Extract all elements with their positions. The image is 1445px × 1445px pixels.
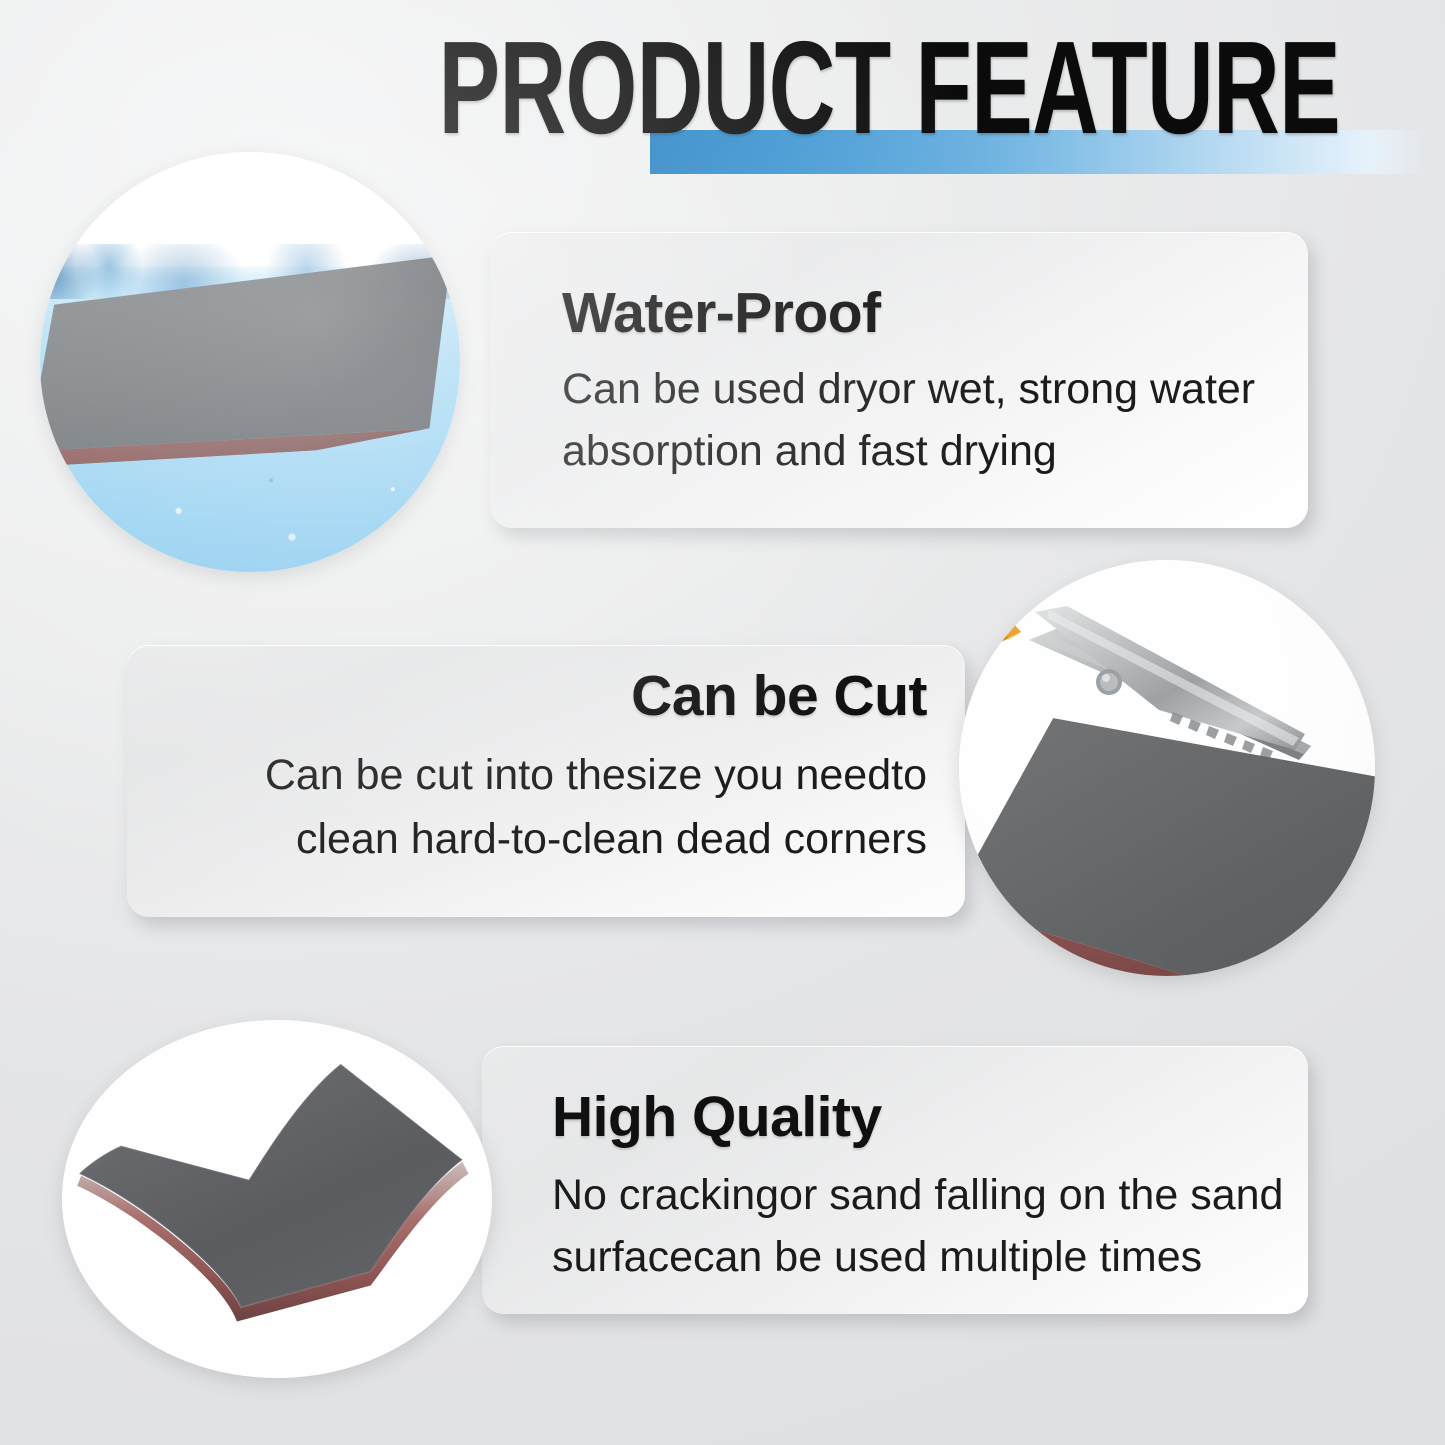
page-title: PRODUCT FEATURE: [402, 28, 1340, 148]
sponge-top-surface: [79, 1064, 462, 1308]
scissors-handle-upper: [1027, 564, 1071, 602]
bent-sanding-sponge: [62, 1034, 492, 1363]
feature-text-water-proof: Can be used dryor wet, strong water abso…: [562, 358, 1282, 482]
feature-card-body: Water-Proof Can be used dryor wet, stron…: [562, 280, 1282, 482]
product-feature-infographic: PRODUCT FEATURE Water-Proof Can be used …: [0, 0, 1445, 1445]
feature-card-high-quality: High Quality No crackingor sand falling …: [482, 1046, 1308, 1314]
feature-card-can-be-cut: Can be Cut Can be cut into thesize you n…: [127, 645, 965, 917]
feature-heading-water-proof: Water-Proof: [562, 280, 1282, 346]
water-sanding-block-photo: [40, 152, 460, 572]
feature-card-water-proof: Water-Proof Can be used dryor wet, stron…: [490, 232, 1308, 528]
feature-heading-high-quality: High Quality: [552, 1084, 1292, 1150]
feature-text-high-quality: No crackingor sand falling on the sand s…: [552, 1164, 1292, 1288]
feature-card-body: Can be Cut Can be cut into thesize you n…: [167, 663, 927, 871]
feature-text-can-be-cut: Can be cut into thesize you needto clean…: [167, 743, 927, 871]
scissors-pivot: [1096, 669, 1122, 695]
bent-sponge-photo: [62, 1020, 492, 1378]
feature-card-body: High Quality No crackingor sand falling …: [552, 1084, 1292, 1288]
sanding-sponge: [959, 718, 1375, 976]
feature-heading-can-be-cut: Can be Cut: [167, 663, 927, 729]
scissors-cutting-sponge-photo: [959, 560, 1375, 976]
